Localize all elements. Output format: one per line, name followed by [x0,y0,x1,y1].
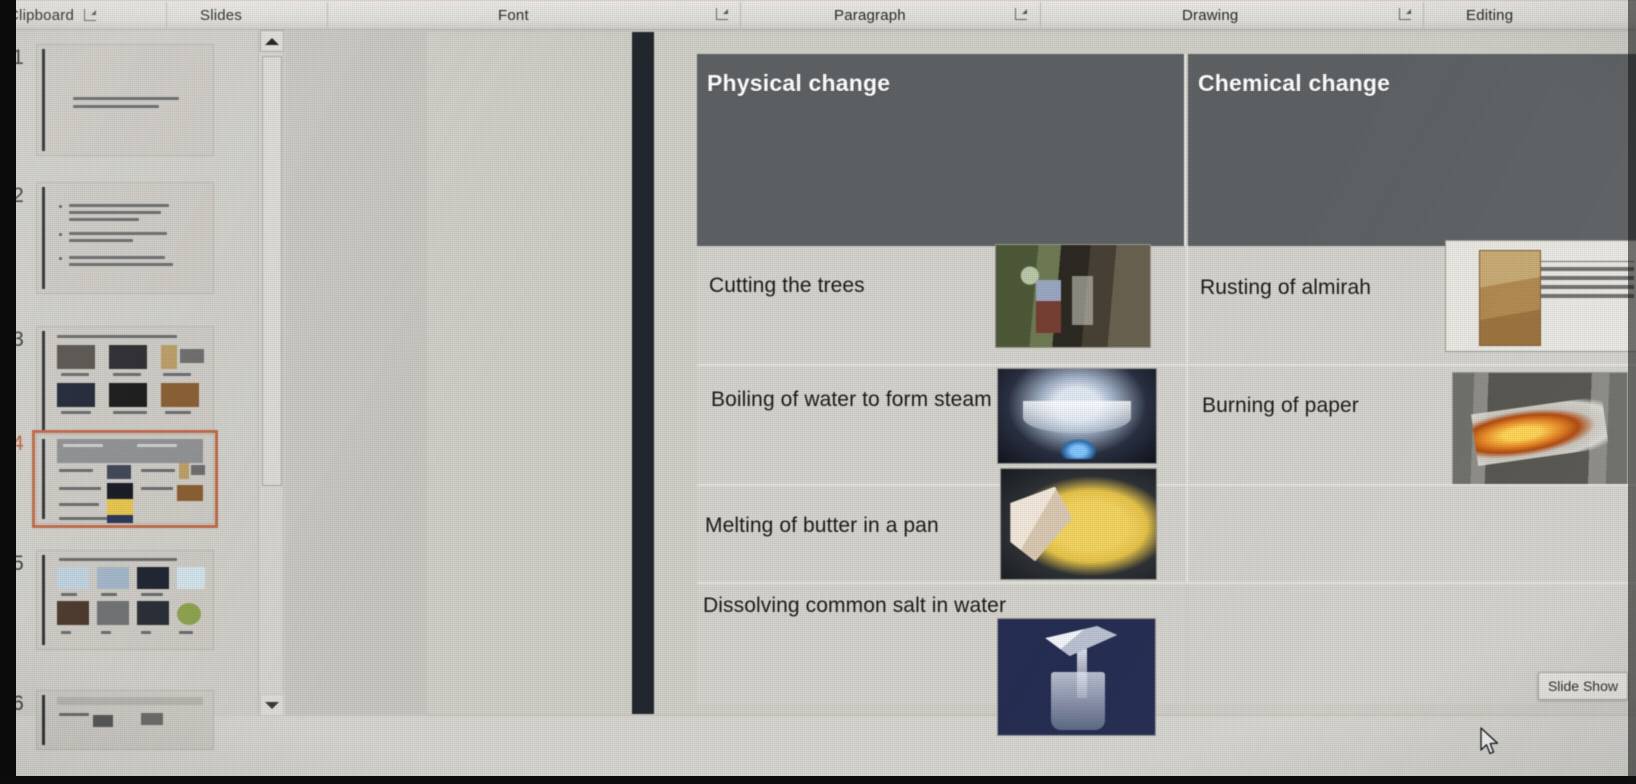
thumbnail-slide-4[interactable] [36,434,214,524]
list-item[interactable]: 5 [0,550,250,650]
list-item[interactable]: 4 [0,430,250,524]
ribbon-group-paragraph[interactable]: Paragraph [834,0,906,30]
ribbon-group-slides[interactable]: Slides [200,0,242,30]
slide-thumbnail-pane[interactable]: 1 2 [0,30,258,716]
thumbnail-slide-2[interactable] [36,182,214,294]
table-header-physical-change[interactable]: Physical change [697,54,1186,246]
dialog-box-launcher-icon[interactable] [716,8,729,21]
thumbnail-scrollbar[interactable] [258,30,284,716]
scroll-down-button[interactable] [260,694,284,716]
scroll-up-button[interactable] [260,30,284,52]
list-item[interactable]: 2 [0,182,250,294]
thumbnail-slide-5[interactable] [36,550,214,650]
boiling-water-pot-on-flame-photo[interactable] [997,368,1157,464]
current-slide[interactable]: Physical change Chemical change Cutting … [427,32,1636,714]
column-header-label: Physical change [697,54,890,97]
cell-label: Dissolving common salt in water [703,594,1006,618]
cell-label: Boiling of water to form steam [711,388,992,412]
ribbon-group-editing[interactable]: Editing [1466,0,1513,30]
thumbnail-slide-6[interactable] [36,690,214,750]
table-row[interactable] [1188,486,1636,582]
tooltip-label: Slide Show [1548,678,1618,694]
comparison-table[interactable]: Physical change Chemical change Cutting … [697,54,1636,704]
ribbon-group-label: Editing [1466,7,1513,24]
ribbon-group-clipboard[interactable]: Clipboard [8,0,97,30]
ribbon-group-font[interactable]: Font [498,0,529,30]
ribbon-group-label: Font [498,7,529,24]
dialog-box-launcher-icon[interactable] [1399,8,1412,21]
cell-label: Cutting the trees [709,274,865,298]
column-header-label: Chemical change [1188,54,1390,97]
caret-up-icon [265,38,279,45]
slide-edit-canvas[interactable]: Physical change Chemical change Cutting … [285,30,1636,716]
list-item[interactable]: 3 [0,326,250,438]
lumberjack-cutting-tree-photo[interactable] [995,244,1151,348]
cell-label: Rusting of almirah [1200,276,1371,300]
mouse-pointer-icon [1479,727,1501,762]
dialog-box-launcher-icon[interactable] [1015,8,1028,21]
scrollbar-thumb[interactable] [262,56,282,486]
caret-down-icon [265,702,279,709]
table-header-chemical-change[interactable]: Chemical change [1188,54,1636,246]
ribbon-group-label: Paragraph [834,7,906,24]
thumbnail-slide-3[interactable] [36,326,214,438]
dialog-box-launcher-icon[interactable] [84,9,97,22]
slide-show-tooltip: Slide Show [1538,672,1628,700]
cell-label: Burning of paper [1202,394,1359,418]
ribbon-group-label: Drawing [1182,7,1238,24]
cell-label: Melting of butter in a pan [705,514,939,538]
ribbon-group-labels: Clipboard Slides Font Paragraph Drawing … [0,0,1636,30]
list-item[interactable]: 1 [0,44,250,156]
ribbon-group-label: Clipboard [8,7,74,24]
ribbon-group-label: Slides [200,7,242,24]
burning-paper-flame-photo[interactable] [1452,372,1628,488]
salt-poured-into-glass-of-water-photo[interactable] [997,618,1156,736]
ribbon-group-drawing[interactable]: Drawing [1182,0,1238,30]
list-item[interactable]: 6 [0,690,250,750]
thumbnail-slide-1[interactable] [36,44,214,156]
butter-melting-in-pan-photo[interactable] [1000,468,1157,580]
rusty-metal-almirah-photo[interactable] [1445,240,1636,352]
slide-accent-bar [632,32,654,714]
